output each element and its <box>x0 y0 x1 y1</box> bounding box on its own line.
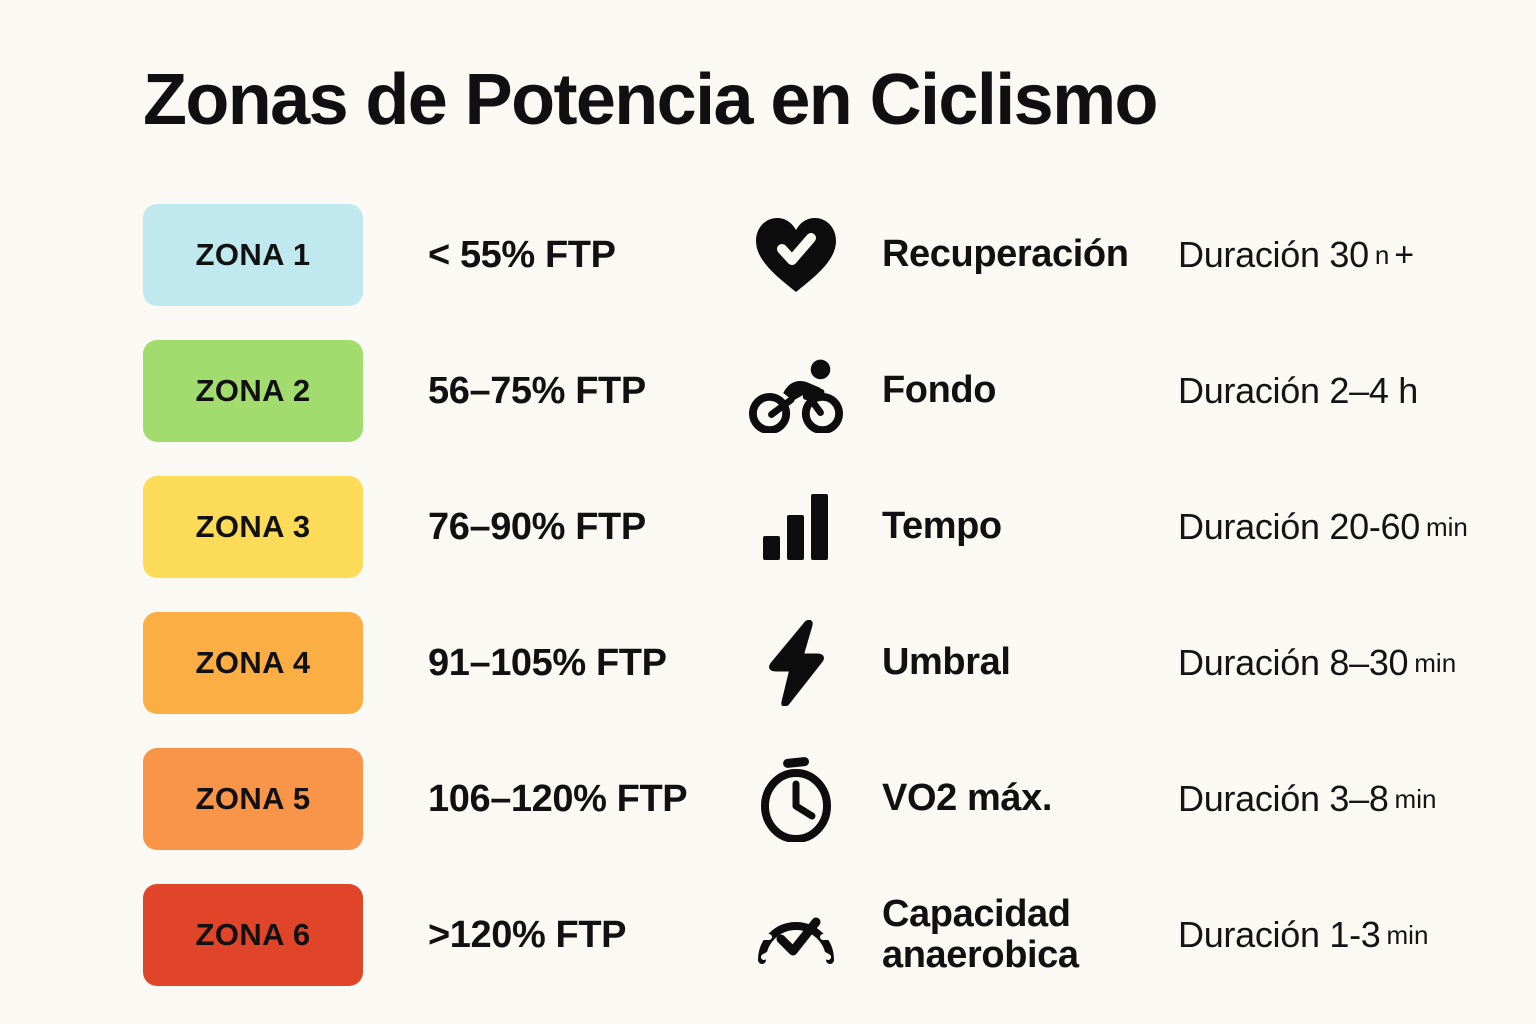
zone-name-line1: Umbral <box>882 642 1182 683</box>
zone-name: Recuperación <box>882 204 1182 306</box>
zone-badge-label: ZONA 3 <box>196 509 311 545</box>
zone-duration-text: Duración 30 <box>1178 234 1369 276</box>
zone-list: ZONA 1 < 55% FTP Recuperación Duración 3… <box>0 196 1536 1012</box>
zone-name-line1: Recuperación <box>882 234 1182 275</box>
zone-row: ZONA 3 76–90% FTP Tempo Duración 20-60 m… <box>0 468 1536 604</box>
infographic-canvas: Zonas de Potencia en Ciclismo ZONA 1 < 5… <box>0 0 1536 1024</box>
zone-badge-4[interactable]: ZONA 4 <box>143 612 363 714</box>
bar-chart-icon <box>748 476 844 578</box>
zone-row: ZONA 1 < 55% FTP Recuperación Duración 3… <box>0 196 1536 332</box>
zone-duration-text: Duración 3–8 <box>1178 778 1389 820</box>
zone-ftp-range: < 55% FTP <box>428 204 616 306</box>
zone-duration-unit: min <box>1395 784 1437 815</box>
zone-name: Tempo <box>882 476 1182 578</box>
zone-duration-unit: min <box>1414 648 1456 679</box>
zone-duration: Duración 30 n + <box>1178 204 1518 306</box>
zone-ftp-range: >120% FTP <box>428 884 626 986</box>
zone-name-line2: anaerobica <box>882 935 1182 976</box>
zone-badge-2[interactable]: ZONA 2 <box>143 340 363 442</box>
zone-duration-text: Duración 2–4 h <box>1178 370 1418 412</box>
zone-duration: Duración 20-60 min <box>1178 476 1518 578</box>
zone-name-line1: Fondo <box>882 370 1182 411</box>
zone-ftp-range: 91–105% FTP <box>428 612 667 714</box>
zone-duration-unit: min <box>1426 512 1468 543</box>
page-title: Zonas de Potencia en Ciclismo <box>143 64 1157 136</box>
zone-duration: Duración 8–30 min <box>1178 612 1518 714</box>
zone-name-line1: Tempo <box>882 506 1182 547</box>
zone-badge-label: ZONA 1 <box>196 237 311 273</box>
zone-badge-label: ZONA 4 <box>196 645 311 681</box>
heart-check-icon <box>748 204 844 306</box>
zone-badge-6[interactable]: ZONA 6 <box>143 884 363 986</box>
zone-name: Umbral <box>882 612 1182 714</box>
zone-name: Fondo <box>882 340 1182 442</box>
gauge-check-icon <box>748 884 844 986</box>
lightning-bolt-icon <box>748 612 844 714</box>
zone-name-line1: VO2 máx. <box>882 778 1182 819</box>
zone-duration-unit: min <box>1387 920 1429 951</box>
stopwatch-icon <box>748 748 844 850</box>
zone-duration: Duración 2–4 h <box>1178 340 1518 442</box>
zone-name: VO2 máx. <box>882 748 1182 850</box>
zone-duration: Duración 3–8 min <box>1178 748 1518 850</box>
cyclist-icon <box>748 340 844 442</box>
zone-duration-text: Duración 1-3 <box>1178 914 1381 956</box>
zone-duration-text: Duración 8–30 <box>1178 642 1408 684</box>
zone-badge-label: ZONA 2 <box>196 373 311 409</box>
zone-row: ZONA 4 91–105% FTP Umbral Duración 8–30 … <box>0 604 1536 740</box>
zone-duration-text: Duración 20-60 <box>1178 506 1420 548</box>
zone-ftp-range: 76–90% FTP <box>428 476 646 578</box>
zone-duration-suffix: + <box>1394 236 1414 275</box>
zone-ftp-range: 56–75% FTP <box>428 340 646 442</box>
zone-badge-3[interactable]: ZONA 3 <box>143 476 363 578</box>
zone-badge-1[interactable]: ZONA 1 <box>143 204 363 306</box>
zone-duration-unit: n <box>1375 240 1389 271</box>
zone-badge-label: ZONA 6 <box>196 917 311 953</box>
zone-badge-5[interactable]: ZONA 5 <box>143 748 363 850</box>
zone-name-line1: Capacidad <box>882 894 1182 935</box>
zone-name: Capacidad anaerobica <box>882 884 1182 986</box>
zone-duration: Duración 1-3 min <box>1178 884 1518 986</box>
zone-badge-label: ZONA 5 <box>196 781 311 817</box>
zone-row: ZONA 5 106–120% FTP VO2 máx. Duración 3–… <box>0 740 1536 876</box>
zone-ftp-range: 106–120% FTP <box>428 748 687 850</box>
zone-row: ZONA 2 56–75% FTP Fondo Duración 2–4 h <box>0 332 1536 468</box>
zone-row: ZONA 6 >120% FTP Capacidad anaero <box>0 876 1536 1012</box>
